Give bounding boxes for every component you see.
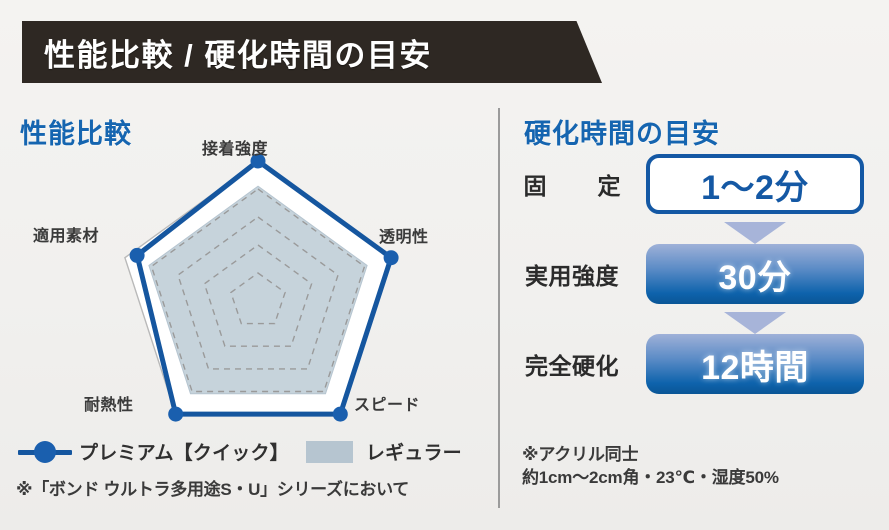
cure-value-full-cure: 12時間	[646, 334, 864, 394]
flow-arrow-1-container	[498, 221, 889, 245]
right-panel-title: 硬化時間の目安	[524, 112, 720, 151]
infographic-root: 性能比較 / 硬化時間の目安 性能比較	[0, 0, 889, 530]
radar-axis-label-speed: スピード	[354, 391, 420, 415]
header-title: 性能比較 / 硬化時間の目安	[44, 30, 432, 75]
radar-axis-label-heat-resistance: 耐熱性	[84, 391, 134, 415]
legend-marker-premium	[18, 441, 72, 463]
cure-label-full-cure: 完全硬化	[498, 347, 646, 381]
right-panel-footnote-line1: ※アクリル同士	[522, 444, 779, 467]
chart-legend: プレミアム【クイック】 レギュラー	[18, 438, 484, 465]
arrow-down-icon	[724, 312, 786, 334]
right-panel-footnote: ※アクリル同士 約1cm〜2cm角・23℃・湿度50%	[522, 444, 779, 490]
cure-row-full-cure: 完全硬化 12時間	[498, 333, 889, 395]
cure-time-list: 固 定 1〜2分 実用強度 30分 完全硬化 1	[498, 153, 889, 403]
right-panel-footnote-line2: 約1cm〜2cm角・23℃・湿度50%	[522, 467, 779, 490]
cure-row-practical-strength: 実用強度 30分	[498, 243, 889, 305]
cure-time-panel: 硬化時間の目安 固 定 1〜2分 実用強度 30分	[498, 95, 889, 530]
arrow-down-icon	[724, 222, 786, 244]
radar-axis-label-applicable-materials: 適用素材	[33, 222, 99, 246]
radar-axis-label-adhesive-strength: 接着強度	[202, 135, 268, 159]
legend-label-premium: プレミアム【クイック】	[79, 438, 289, 465]
performance-comparison-panel: 性能比較	[0, 95, 492, 530]
cure-value-fixing: 1〜2分	[646, 154, 864, 214]
cure-value-practical-strength: 30分	[646, 244, 864, 304]
left-panel-footnote: ※「ボンド ウルトラ多用途S・U」シリーズにおいて	[16, 475, 409, 500]
radar-axis-label-transparency: 透明性	[379, 223, 429, 247]
legend-marker-regular	[306, 441, 353, 463]
header-banner: 性能比較 / 硬化時間の目安	[22, 21, 602, 83]
radar-chart: 接着強度 透明性 スピード 耐熱性 適用素材	[12, 133, 482, 443]
flow-arrow-2-container	[498, 311, 889, 335]
legend-label-regular: レギュラー	[366, 438, 462, 465]
cure-label-fixing: 固 定	[498, 167, 646, 201]
cure-label-practical-strength: 実用強度	[498, 257, 646, 291]
cure-row-fixing: 固 定 1〜2分	[498, 153, 889, 215]
